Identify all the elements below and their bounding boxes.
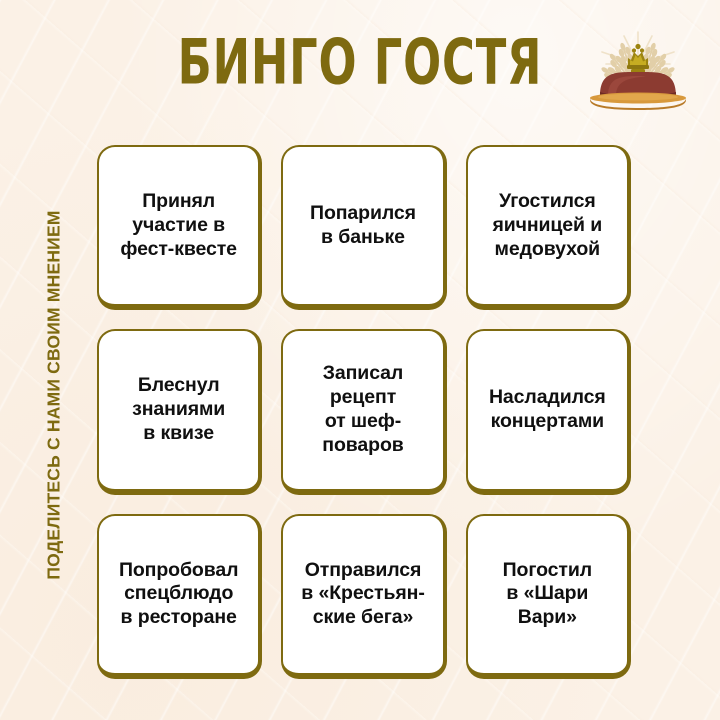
bingo-cell-label: Отправился в «Крестьян- ские бега» [301, 559, 424, 630]
bingo-cell-label: Погостил в «Шари Вари» [503, 559, 592, 630]
crowned-food-cloche-with-wheat-logo [578, 20, 698, 112]
bingo-cell-8[interactable]: Отправился в «Крестьян- ские бега» [281, 514, 446, 679]
bingo-cell-7[interactable]: Попробовал спецблюдо в ресторане [97, 514, 262, 679]
page-title: БИНГО ГОСТЯ [72, 32, 648, 95]
bingo-cell-4[interactable]: Блеснул знаниями в квизе [97, 329, 262, 494]
bingo-cell-label: Попарился в баньке [310, 202, 416, 250]
bingo-cell-6[interactable]: Насладился концертами [466, 329, 631, 494]
bingo-poster: БИНГО ГОСТЯ [0, 0, 720, 720]
bingo-cell-label: Угостился яичницей и медовухой [492, 190, 602, 261]
bingo-grid: Принял участие в фест-квесте Попарился в… [97, 145, 631, 679]
bingo-cell-label: Попробовал спецблюдо в ресторане [119, 559, 238, 630]
bingo-cell-label: Блеснул знаниями в квизе [132, 374, 225, 445]
side-caption-label: ПОДЕЛИТЕСЬ С НАМИ СВОИМ МНЕНИЕМ [44, 210, 65, 579]
poster-header: БИНГО ГОСТЯ [0, 0, 720, 130]
bingo-cell-5[interactable]: Записал рецепт от шеф- поваров [281, 329, 446, 494]
bingo-cell-label: Насладился концертами [489, 386, 606, 434]
bingo-cell-3[interactable]: Угостился яичницей и медовухой [466, 145, 631, 310]
bingo-cell-1[interactable]: Принял участие в фест-квесте [97, 145, 262, 310]
side-caption: ПОДЕЛИТЕСЬ С НАМИ СВОИМ МНЕНИЕМ [34, 150, 74, 640]
bingo-cell-label: Принял участие в фест-квесте [120, 190, 237, 261]
bingo-cell-2[interactable]: Попарился в баньке [281, 145, 446, 310]
bingo-cell-label: Записал рецепт от шеф- поваров [322, 362, 403, 457]
bingo-cell-9[interactable]: Погостил в «Шари Вари» [466, 514, 631, 679]
